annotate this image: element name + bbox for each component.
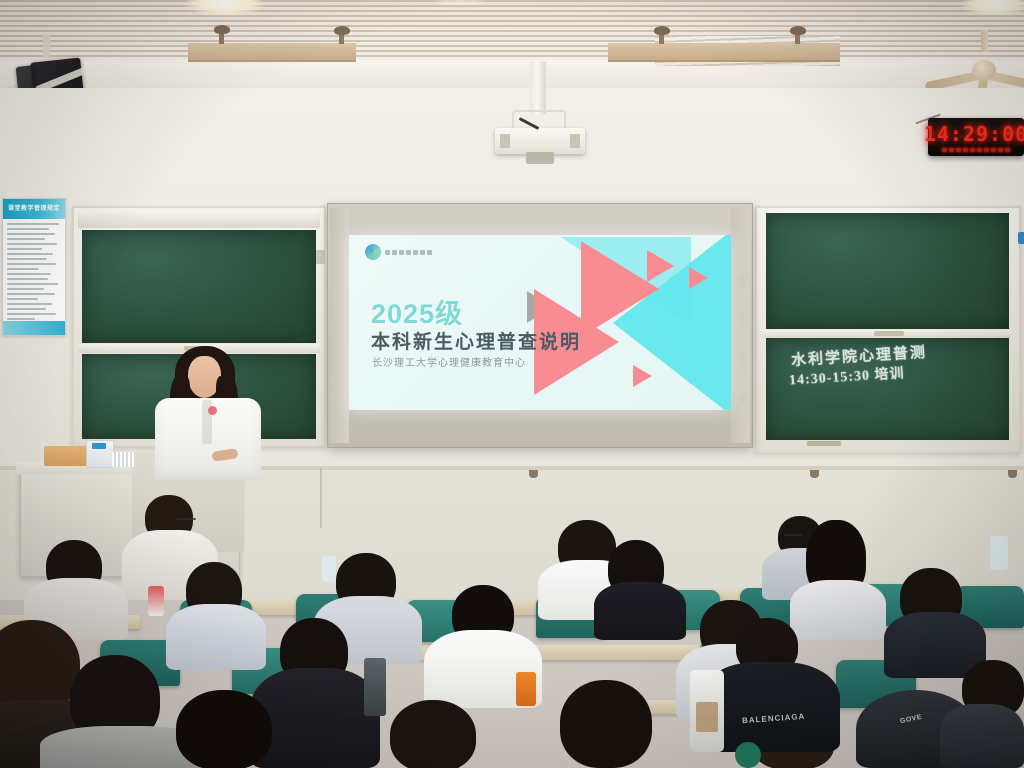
beam-cap: [790, 26, 806, 35]
student-head: [390, 700, 476, 768]
water-bottle: [148, 586, 164, 616]
student-torso: [940, 704, 1024, 768]
board-side-button[interactable]: [1018, 232, 1024, 244]
drink-bottle: [516, 672, 536, 706]
wall-hook: [810, 470, 819, 478]
wall-notice-poster: 课堂教学管理规定: [2, 198, 66, 336]
projector-vent: [570, 134, 580, 148]
blackboard-right: 水利学院心理普测 14:30-15:30 培训: [755, 206, 1021, 453]
blackboard-right-handle: [874, 331, 904, 336]
clock-indicator-row: [942, 148, 1010, 152]
interactive-whiteboard[interactable]: 2025级 本科新生心理普查说明 长沙理工大学心理健康教育中心: [327, 203, 753, 448]
wall-seam: [320, 468, 322, 528]
student-head: [560, 680, 652, 768]
blackboard-left-top-track: [78, 212, 320, 228]
ceiling-beam: [188, 43, 356, 62]
slide-logo: [365, 244, 432, 260]
iwb-side-key[interactable]: [739, 394, 745, 403]
fan-rod: [981, 30, 988, 52]
university-logo-wordmark: [385, 250, 432, 255]
slide-shape-pink-small-2: [689, 267, 708, 289]
university-logo-icon: [365, 244, 381, 260]
slide-shape-pink-small-3: [633, 365, 652, 387]
wall-hook: [529, 470, 538, 478]
water-bottle: [322, 556, 336, 582]
student-head: [176, 690, 272, 768]
wall-hook: [1008, 470, 1017, 478]
student-torso: [594, 582, 686, 640]
iwb-side-key[interactable]: [335, 300, 341, 309]
student-torso: [790, 580, 886, 640]
iwb-side-key[interactable]: [739, 276, 745, 285]
podium-box-label: [92, 443, 106, 449]
fan-rod: [43, 34, 50, 58]
iwb-side-key[interactable]: [335, 276, 341, 285]
slide-subtitle-text: 长沙理工大学心理健康教育中心: [372, 354, 526, 369]
podium-papers: [112, 452, 134, 467]
beam-cap: [214, 25, 230, 34]
bottle-cap: [735, 742, 761, 768]
iwb-side-key[interactable]: [335, 372, 341, 381]
poster-footer: [3, 321, 65, 335]
poster-header: 课堂教学管理规定: [3, 199, 65, 219]
slide-shape-pink-small-1: [647, 250, 674, 282]
presenter-badge: [208, 406, 217, 415]
presenter: [150, 346, 270, 476]
board-side-button[interactable]: [316, 250, 325, 264]
slide-year-text: 2025级: [371, 292, 463, 331]
ceiling-beam: [608, 43, 840, 62]
glasses-icon: [176, 518, 196, 520]
poster-body-text: [7, 223, 61, 317]
fan-hub: [972, 60, 996, 80]
iwb-right-bezel: [731, 208, 750, 443]
student-torso: [166, 604, 266, 670]
student-head: [0, 620, 80, 712]
blackboard-right-upper-panel: [766, 213, 1009, 329]
iwb-side-key[interactable]: [739, 354, 745, 363]
blackboard-left-upper-panel: [82, 230, 316, 343]
glasses-icon: [784, 534, 802, 536]
beam-cap: [334, 26, 350, 35]
projector-vent: [500, 134, 510, 148]
iwb-side-key[interactable]: [739, 314, 745, 323]
thermos-label: [696, 702, 718, 732]
beam-cap: [654, 26, 670, 35]
projected-slide: 2025级 本科新生心理普查说明 长沙理工大学心理健康教育中心: [349, 235, 731, 410]
led-clock: 14:29:00: [928, 118, 1024, 156]
projector-lens: [526, 152, 554, 164]
water-bottle: [990, 536, 1008, 570]
poster-header-text: 课堂教学管理规定: [3, 199, 65, 219]
projector-pole: [530, 62, 546, 114]
water-bottle: [364, 658, 386, 716]
iwb-side-key[interactable]: [335, 324, 341, 333]
classroom-photo: 14:29:00 课堂教学管理规定 水利学院心理普测 14:3: [0, 0, 1024, 768]
clock-time-display: 14:29:00: [924, 122, 1024, 146]
blackboard-right-bottom-handle: [807, 441, 841, 446]
slide-title-text: 本科新生心理普查说明: [371, 327, 581, 354]
iwb-side-key[interactable]: [335, 348, 341, 357]
